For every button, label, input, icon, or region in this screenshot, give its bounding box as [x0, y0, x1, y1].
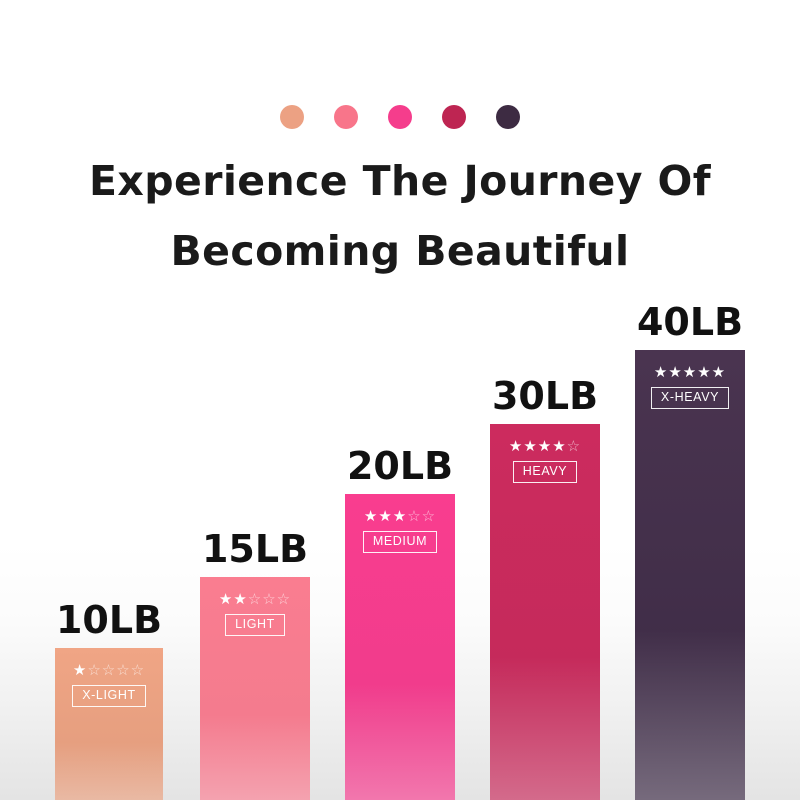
dot-heavy-icon	[442, 105, 466, 129]
page-title: Experience The Journey Of Becoming Beaut…	[0, 146, 800, 286]
dot-light-icon	[334, 105, 358, 129]
star-rating-icon: ★★★☆☆	[345, 508, 455, 525]
title-line-1: Experience The Journey Of	[0, 146, 800, 216]
star-filled-icon: ★★★★★	[654, 364, 726, 381]
bar-column-40lb: 40LB★★★★★X-HEAVY	[635, 350, 745, 800]
bar-bottom-fade	[345, 684, 455, 800]
tier-label: MEDIUM	[363, 531, 437, 553]
bar-value-label: 15LB	[202, 530, 308, 568]
star-filled-icon: ★★★★	[509, 438, 567, 455]
bar-column-15lb: 15LB★★☆☆☆LIGHT	[200, 577, 310, 800]
bar-30lb: ★★★★☆HEAVY	[490, 424, 600, 800]
bar-badge: ★★★★★X-HEAVY	[635, 364, 745, 409]
bar-bottom-fade	[490, 657, 600, 800]
bar-bottom-fade	[55, 742, 163, 800]
tier-label: X-HEAVY	[651, 387, 729, 409]
tier-label: LIGHT	[225, 614, 285, 636]
star-rating-icon: ★☆☆☆☆	[55, 662, 163, 679]
bar-column-10lb: 10LB★☆☆☆☆X-LIGHT	[55, 648, 163, 800]
star-empty-icon: ☆	[567, 438, 581, 455]
bar-10lb: ★☆☆☆☆X-LIGHT	[55, 648, 163, 800]
bar-value-label: 30LB	[492, 377, 598, 415]
bar-15lb: ★★☆☆☆LIGHT	[200, 577, 310, 800]
dot-x-heavy-icon	[496, 105, 520, 129]
star-filled-icon: ★★★	[364, 508, 407, 525]
star-filled-icon: ★	[73, 662, 87, 679]
bar-badge: ★★☆☆☆LIGHT	[200, 591, 310, 636]
bar-badge: ★★★★☆HEAVY	[490, 438, 600, 483]
poster-root: Experience The Journey Of Becoming Beaut…	[0, 0, 800, 800]
resistance-bar-chart: 10LB★☆☆☆☆X-LIGHT15LB★★☆☆☆LIGHT20LB★★★☆☆M…	[0, 280, 800, 800]
dot-x-light-icon	[280, 105, 304, 129]
star-rating-icon: ★★☆☆☆	[200, 591, 310, 608]
star-empty-icon: ☆☆☆☆	[87, 662, 145, 679]
bar-bottom-fade	[200, 715, 310, 800]
title-line-2: Becoming Beautiful	[0, 216, 800, 286]
bar-badge: ★★★☆☆MEDIUM	[345, 508, 455, 553]
bar-column-20lb: 20LB★★★☆☆MEDIUM	[345, 494, 455, 800]
star-rating-icon: ★★★★★	[635, 364, 745, 381]
bar-value-label: 40LB	[637, 303, 743, 341]
dot-medium-icon	[388, 105, 412, 129]
bar-40lb: ★★★★★X-HEAVY	[635, 350, 745, 800]
star-empty-icon: ☆☆☆	[248, 591, 291, 608]
tier-label: X-LIGHT	[72, 685, 146, 707]
star-rating-icon: ★★★★☆	[490, 438, 600, 455]
bar-value-label: 20LB	[347, 447, 453, 485]
tier-label: HEAVY	[513, 461, 577, 483]
color-dot-row	[0, 105, 800, 129]
star-filled-icon: ★★	[219, 591, 248, 608]
bar-20lb: ★★★☆☆MEDIUM	[345, 494, 455, 800]
bar-column-30lb: 30LB★★★★☆HEAVY	[490, 424, 600, 800]
bar-badge: ★☆☆☆☆X-LIGHT	[55, 662, 163, 707]
bar-bottom-fade	[635, 629, 745, 800]
star-empty-icon: ☆☆	[407, 508, 436, 525]
bar-value-label: 10LB	[56, 601, 162, 639]
